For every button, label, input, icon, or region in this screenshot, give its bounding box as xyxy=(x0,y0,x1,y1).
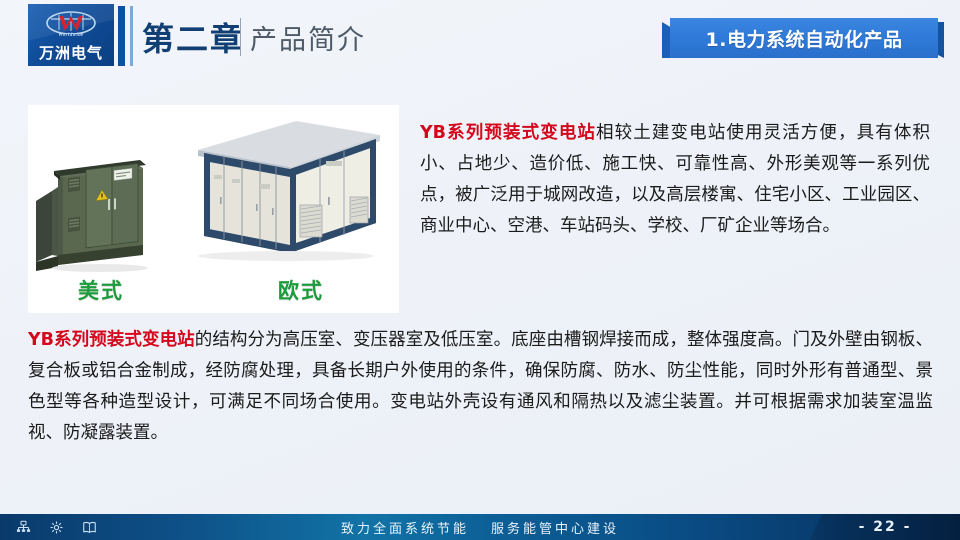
banner-body: 1.电力系统自动化产品 xyxy=(670,18,938,58)
company-logo: Worldwide 万洲电气 xyxy=(28,4,114,66)
w-emblem-icon xyxy=(45,10,97,34)
paragraph-right: YB系列预装式变电站相较土建变电站使用灵活方便，具有体积小、占地少、造价低、施工… xyxy=(420,118,930,242)
keyword-highlight-bottom: YB系列预装式变电站 xyxy=(28,330,195,350)
slide-header: Worldwide 万洲电气 第二章 产品简介 1.电力系统自动化产品 xyxy=(0,0,960,78)
slide-footer: 致力全面系统节能 服务能管中心建设 - 22 - xyxy=(0,514,960,540)
logo-latin-name: Worldwide xyxy=(28,33,114,38)
header-accent-bar-thick xyxy=(118,6,125,66)
footer-slogan-right: 服务能管中心建设 xyxy=(491,518,619,537)
keyword-highlight-right: YB系列预装式变电站 xyxy=(420,123,596,143)
section-banner[interactable]: 1.电力系统自动化产品 xyxy=(662,18,944,58)
chapter-title: 第二章 xyxy=(142,14,244,60)
caption-european-style: 欧式 xyxy=(278,275,324,305)
caption-american-style: 美式 xyxy=(78,275,124,305)
paragraph-bottom: YB系列预装式变电站的结构分为高压室、变压器室及低压室。底座由槽钢焊接而成，整体… xyxy=(28,325,933,449)
slide-canvas: Worldwide 万洲电气 第二章 产品简介 1.电力系统自动化产品 xyxy=(0,0,960,540)
chapter-divider xyxy=(240,18,241,56)
page-number-box: - 22 - xyxy=(810,514,960,540)
chapter-subtitle: 产品简介 xyxy=(250,18,366,57)
footer-slogan-left: 致力全面系统节能 xyxy=(341,518,469,537)
banner-label: 1.电力系统自动化产品 xyxy=(706,25,903,52)
logo-cn-name: 万洲电气 xyxy=(28,42,114,63)
product-photo: 美式 欧式 xyxy=(28,105,399,313)
page-number: - 22 - xyxy=(859,519,912,535)
header-accent-bar-thin xyxy=(130,6,133,66)
